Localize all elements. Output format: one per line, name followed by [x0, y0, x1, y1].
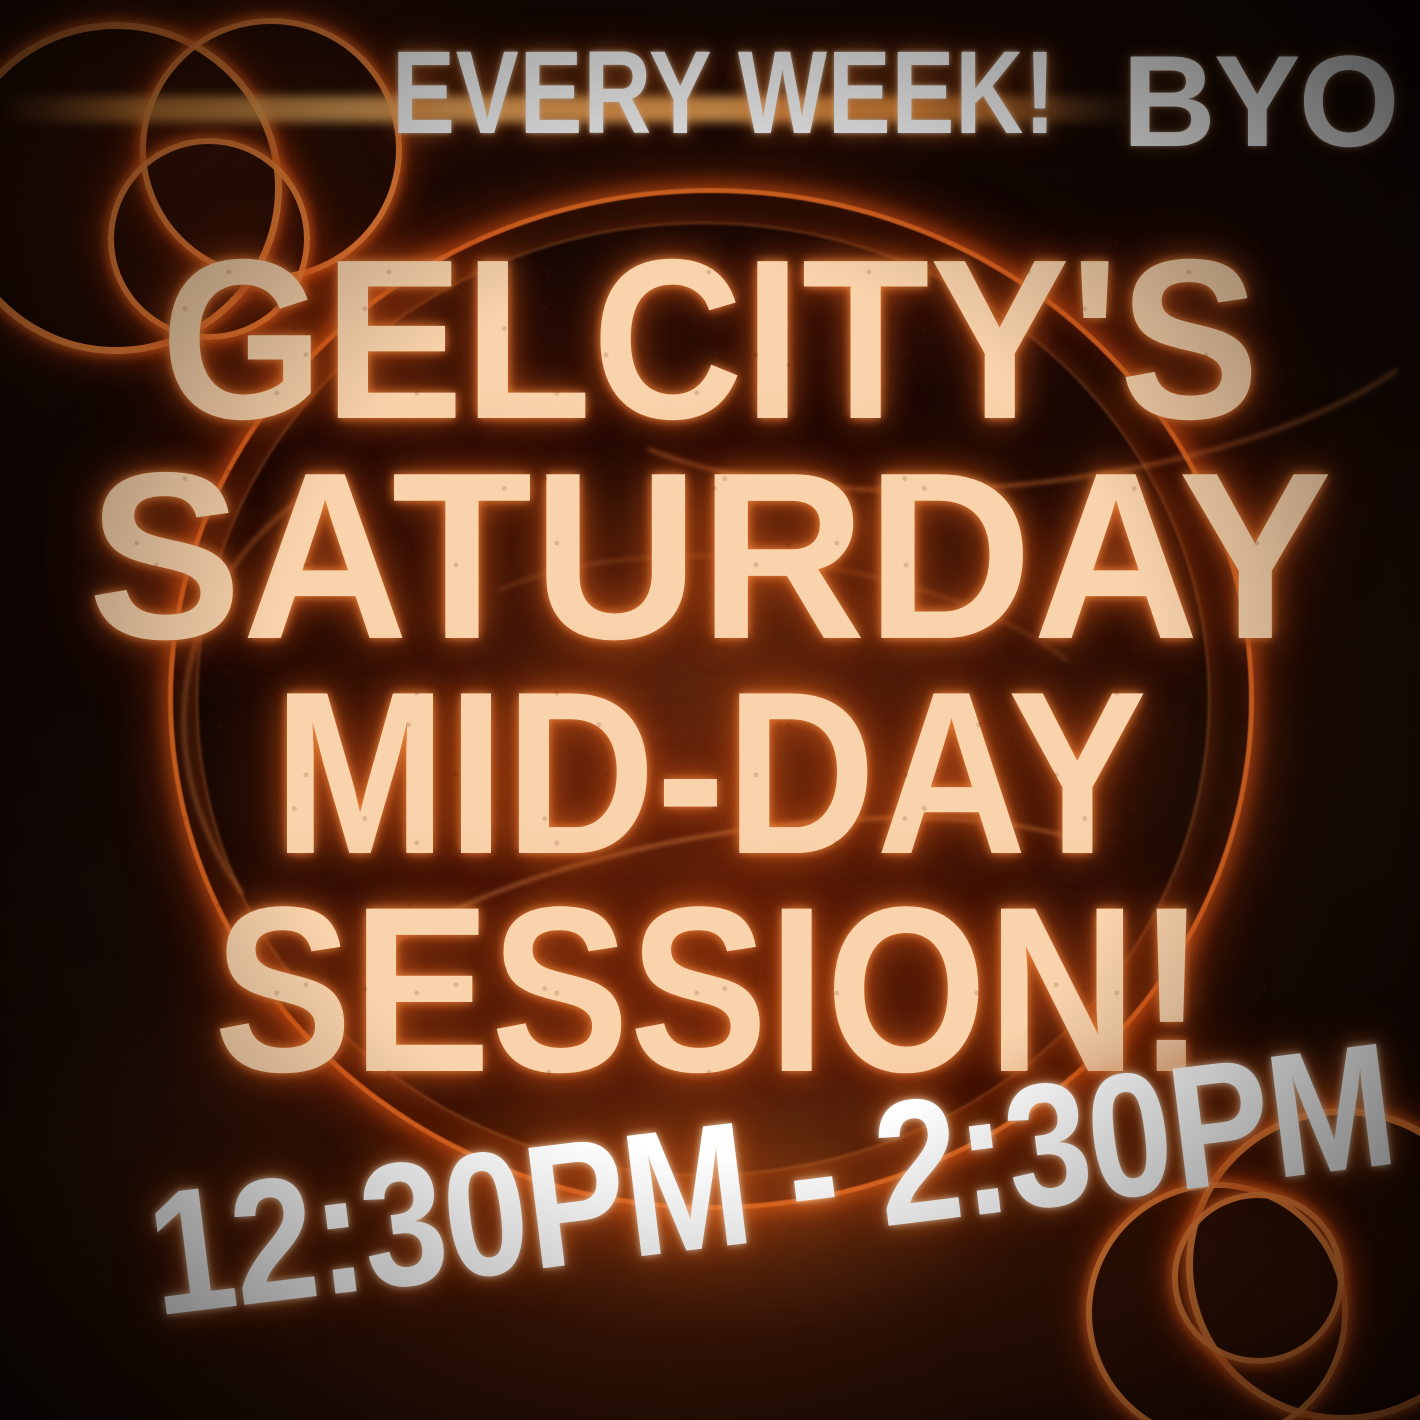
promo-poster: EVERY WEEK! BYO GELCITY'S SATURDAY MID-D… [0, 0, 1420, 1420]
headline-line-3: MID-DAY [71, 658, 1349, 890]
kicker-text: EVERY WEEK! [392, 34, 920, 152]
headline-line-2: SATURDAY [21, 438, 1398, 676]
byo-badge: BYO [1122, 36, 1398, 166]
headline-line-1: GELCITY'S [57, 226, 1363, 454]
